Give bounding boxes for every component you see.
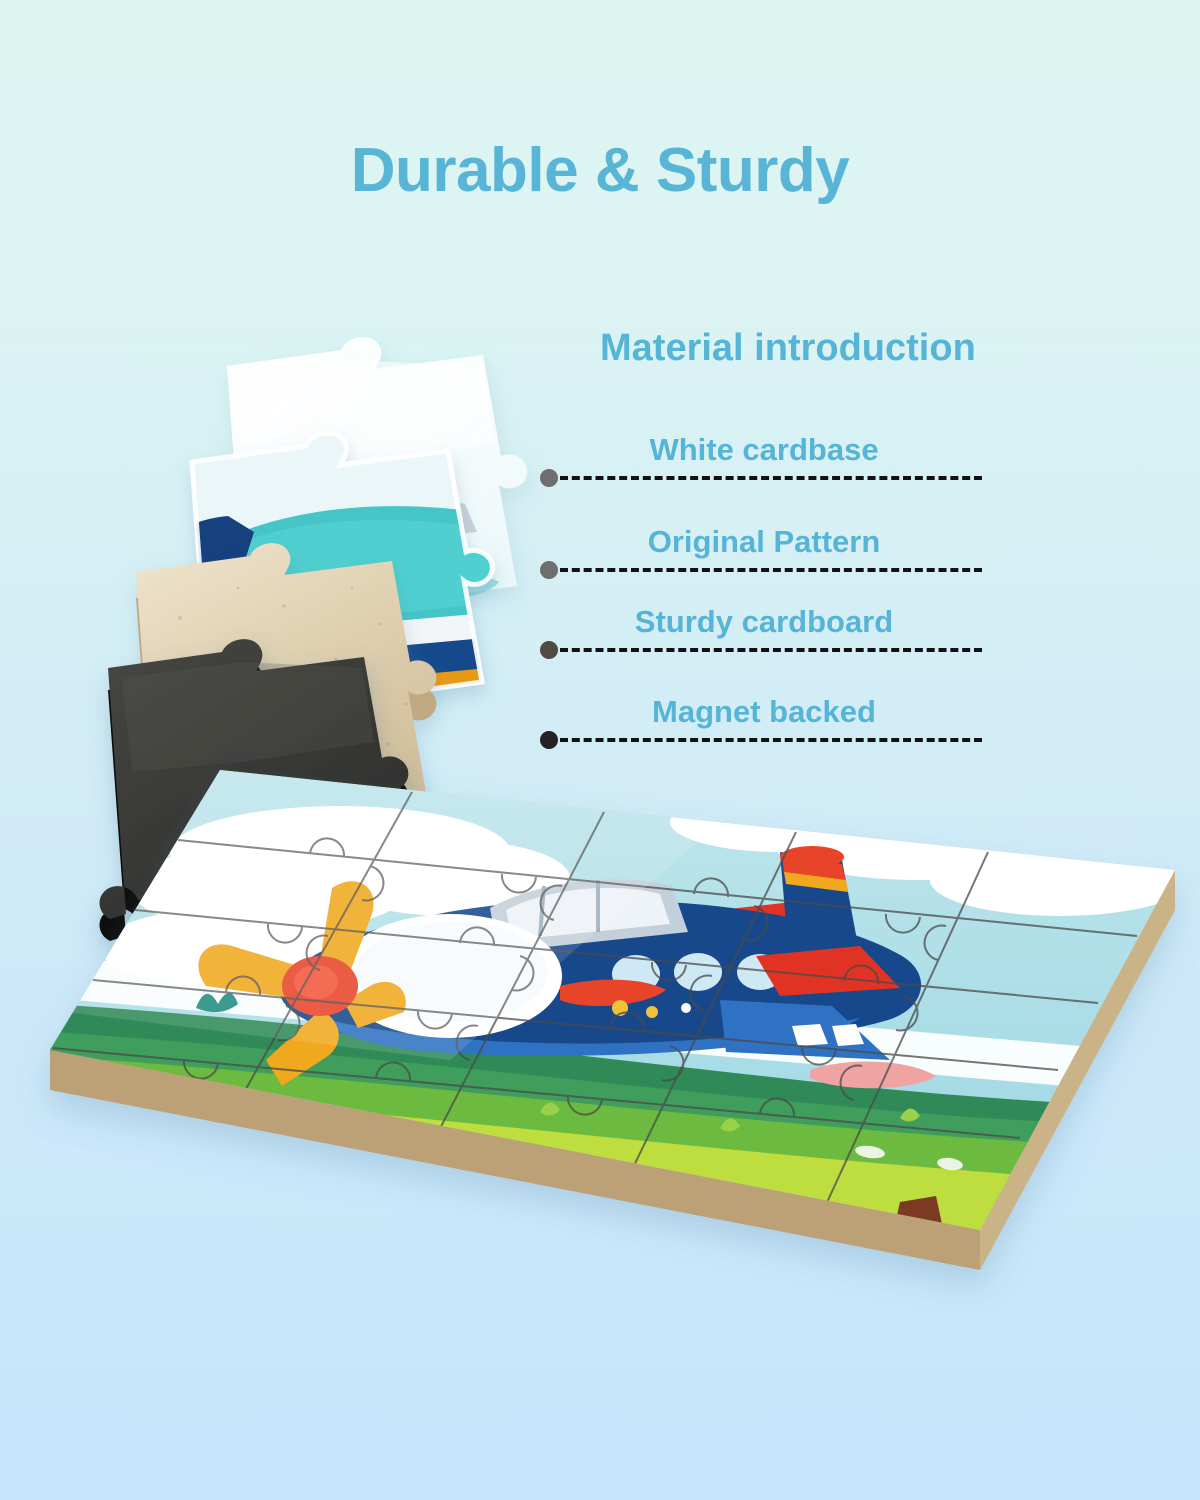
callout-label: Original Pattern (552, 524, 976, 560)
product-infographic-page: Durable & Sturdy Material introduction (0, 0, 1200, 1500)
callout-label: Magnet backed (552, 694, 976, 730)
callout-label: White cardbase (552, 432, 976, 468)
callout-dashed-line (560, 568, 982, 572)
callout-dashed-line (560, 738, 982, 742)
material-introduction-heading: Material introduction (600, 327, 976, 370)
page-title: Durable & Sturdy (0, 135, 1200, 206)
callout-dashed-line (560, 476, 982, 480)
callout-dot-icon (540, 469, 558, 487)
puzzle-artwork (20, 760, 1190, 1320)
exploded-layer-stack (60, 350, 640, 820)
callout-dot-icon (540, 561, 558, 579)
assembled-puzzle-board (20, 760, 1190, 1320)
callout-dot-icon (540, 641, 558, 659)
callout-dashed-line (560, 648, 982, 652)
callout-label: Sturdy cardboard (552, 604, 976, 640)
callout-dot-icon (540, 731, 558, 749)
